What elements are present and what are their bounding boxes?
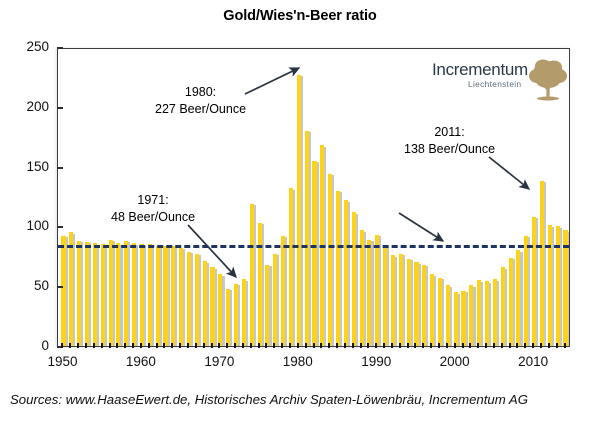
y-tick-label: 250 (3, 39, 49, 54)
x-tick-mark (265, 343, 267, 348)
x-tick-mark (391, 343, 393, 348)
bar (493, 279, 497, 346)
x-tick-mark (352, 343, 354, 348)
arrow-mid-icon (397, 211, 457, 253)
x-tick-mark (211, 343, 213, 348)
bar (438, 278, 442, 346)
chart-figure: Gold/Wies'n-Beer ratio 050100150200250 1… (0, 0, 600, 425)
y-tick-mark (57, 107, 63, 109)
x-tick-mark (77, 343, 79, 348)
x-tick-mark (250, 343, 252, 348)
x-tick-mark (383, 343, 385, 348)
annotation-2011: 2011: 138 Beer/Ounce (404, 124, 495, 158)
annotation-1971: 1971: 48 Beer/Ounce (111, 192, 195, 226)
x-tick-mark (469, 343, 471, 348)
x-tick-mark (203, 343, 205, 348)
bar (422, 265, 426, 346)
x-tick-mark (156, 343, 158, 348)
x-tick-mark (124, 343, 126, 348)
x-tick-label: 2000 (429, 354, 481, 369)
bar (305, 131, 309, 346)
reference-line (58, 245, 569, 248)
bar (179, 248, 183, 346)
bar (414, 262, 418, 346)
bar (234, 284, 238, 346)
bar (297, 75, 301, 346)
bar (124, 241, 128, 346)
x-tick-mark (430, 343, 432, 348)
bar (69, 232, 73, 346)
x-tick-mark (163, 343, 165, 348)
x-tick-mark (360, 343, 362, 348)
x-tick-label: 1960 (115, 354, 167, 369)
x-tick-mark (109, 343, 111, 348)
bar (501, 267, 505, 346)
x-tick-mark (556, 343, 558, 348)
bar (312, 161, 316, 346)
x-tick-label: 2010 (507, 354, 559, 369)
tree-icon (527, 58, 569, 102)
bar (132, 243, 136, 346)
x-tick-mark (273, 343, 275, 348)
bar (430, 274, 434, 346)
x-tick-mark (367, 343, 369, 348)
x-tick-mark (540, 343, 542, 348)
bar (454, 292, 458, 346)
x-tick-mark (116, 343, 118, 348)
bar (328, 174, 332, 346)
annotation-1971-line1: 1971: (137, 193, 168, 207)
bar (407, 259, 411, 346)
x-tick-mark (281, 343, 283, 348)
x-tick-mark (407, 343, 409, 348)
bar (336, 191, 340, 346)
x-tick-mark (187, 343, 189, 348)
x-tick-mark (69, 343, 71, 348)
bar (509, 258, 513, 347)
x-tick-mark (93, 343, 95, 348)
x-tick-mark (171, 343, 173, 348)
x-tick-mark (85, 343, 87, 348)
x-tick-mark (101, 343, 103, 348)
x-tick-mark (501, 343, 503, 348)
bar (352, 212, 356, 346)
x-tick-mark (195, 343, 197, 348)
annotation-2011-line1: 2011: (434, 125, 464, 139)
x-tick-mark (375, 343, 377, 348)
bar (273, 254, 277, 346)
bar (367, 240, 371, 346)
bar (461, 291, 465, 346)
y-tick-label: 0 (3, 338, 49, 353)
bar (61, 236, 65, 346)
annotation-1980-line2: 227 Beer/Ounce (155, 101, 246, 118)
bar (540, 181, 544, 346)
page-title: Gold/Wies'n-Beer ratio (0, 8, 600, 24)
bar (485, 281, 489, 346)
y-tick-mark (57, 226, 63, 228)
x-tick-mark (61, 343, 63, 348)
x-tick-mark (493, 343, 495, 348)
bar (477, 280, 481, 346)
x-tick-mark (548, 343, 550, 348)
arrow-1980-icon (243, 62, 313, 102)
bar (289, 188, 293, 346)
x-tick-mark (305, 343, 307, 348)
bar (171, 246, 175, 346)
bar (383, 246, 387, 346)
x-tick-mark (234, 343, 236, 348)
bar (85, 242, 89, 346)
bar (532, 217, 536, 346)
x-tick-mark (524, 343, 526, 348)
bar (226, 289, 230, 346)
x-tick-mark (313, 343, 315, 348)
bar (391, 255, 395, 346)
bar (516, 250, 520, 346)
logo-subtitle: Liechtenstein (468, 80, 521, 89)
bar (469, 285, 473, 346)
logo-wordmark: Incrementum (432, 60, 528, 80)
bar (548, 225, 552, 346)
x-tick-mark (344, 343, 346, 348)
x-tick-mark (132, 343, 134, 348)
x-tick-mark (532, 343, 534, 348)
incrementum-logo: Incrementum Liechtenstein (432, 58, 567, 104)
y-tick-label: 150 (3, 159, 49, 174)
x-tick-label: 1980 (272, 354, 324, 369)
x-tick-mark (485, 343, 487, 348)
y-tick-label: 100 (3, 218, 49, 233)
bar (399, 254, 403, 346)
y-tick-label: 50 (3, 278, 49, 293)
x-tick-mark (422, 343, 424, 348)
x-tick-mark (148, 343, 150, 348)
arrow-2011-icon (487, 155, 545, 201)
x-tick-mark (462, 343, 464, 348)
bar (109, 240, 113, 346)
x-tick-mark (218, 343, 220, 348)
x-tick-mark (289, 343, 291, 348)
bar (265, 265, 269, 346)
x-tick-mark (328, 343, 330, 348)
bar (375, 235, 379, 346)
x-tick-mark (454, 343, 456, 348)
bar (140, 244, 144, 346)
x-tick-mark (297, 343, 299, 348)
y-tick-mark (57, 167, 63, 169)
y-tick-mark (57, 47, 63, 49)
bar (77, 241, 81, 346)
x-tick-label: 1970 (193, 354, 245, 369)
x-tick-mark (399, 343, 401, 348)
x-tick-mark (179, 343, 181, 348)
x-tick-mark (336, 343, 338, 348)
bar (242, 279, 246, 346)
x-tick-mark (446, 343, 448, 348)
bar (524, 236, 528, 346)
bar (446, 285, 450, 346)
annotation-1971-line2: 48 Beer/Ounce (111, 209, 195, 226)
bar (344, 200, 348, 346)
annotation-1980-line1: 1980: (185, 85, 216, 99)
x-tick-mark (438, 343, 440, 348)
bar (116, 243, 120, 346)
x-tick-mark (140, 343, 142, 348)
x-tick-mark (258, 343, 260, 348)
annotation-1980: 1980: 227 Beer/Ounce (155, 84, 246, 118)
y-tick-mark (57, 286, 63, 288)
arrow-1971-icon (186, 223, 256, 289)
x-tick-label: 1990 (350, 354, 402, 369)
bar (281, 236, 285, 346)
bar (258, 223, 262, 346)
x-tick-mark (509, 343, 511, 348)
x-tick-mark (516, 343, 518, 348)
annotation-2011-line2: 138 Beer/Ounce (404, 141, 495, 158)
bar (93, 243, 97, 346)
bar (148, 244, 152, 346)
x-tick-mark (477, 343, 479, 348)
x-tick-label: 1950 (36, 354, 88, 369)
source-note: Sources: www.HaaseEwert.de, Historisches… (10, 392, 528, 407)
y-tick-label: 200 (3, 99, 49, 114)
bar (163, 246, 167, 346)
x-tick-mark (226, 343, 228, 348)
x-tick-mark (414, 343, 416, 348)
bar (156, 246, 160, 346)
bar (101, 244, 105, 346)
x-tick-mark (320, 343, 322, 348)
x-tick-mark (242, 343, 244, 348)
x-tick-mark (564, 343, 566, 348)
